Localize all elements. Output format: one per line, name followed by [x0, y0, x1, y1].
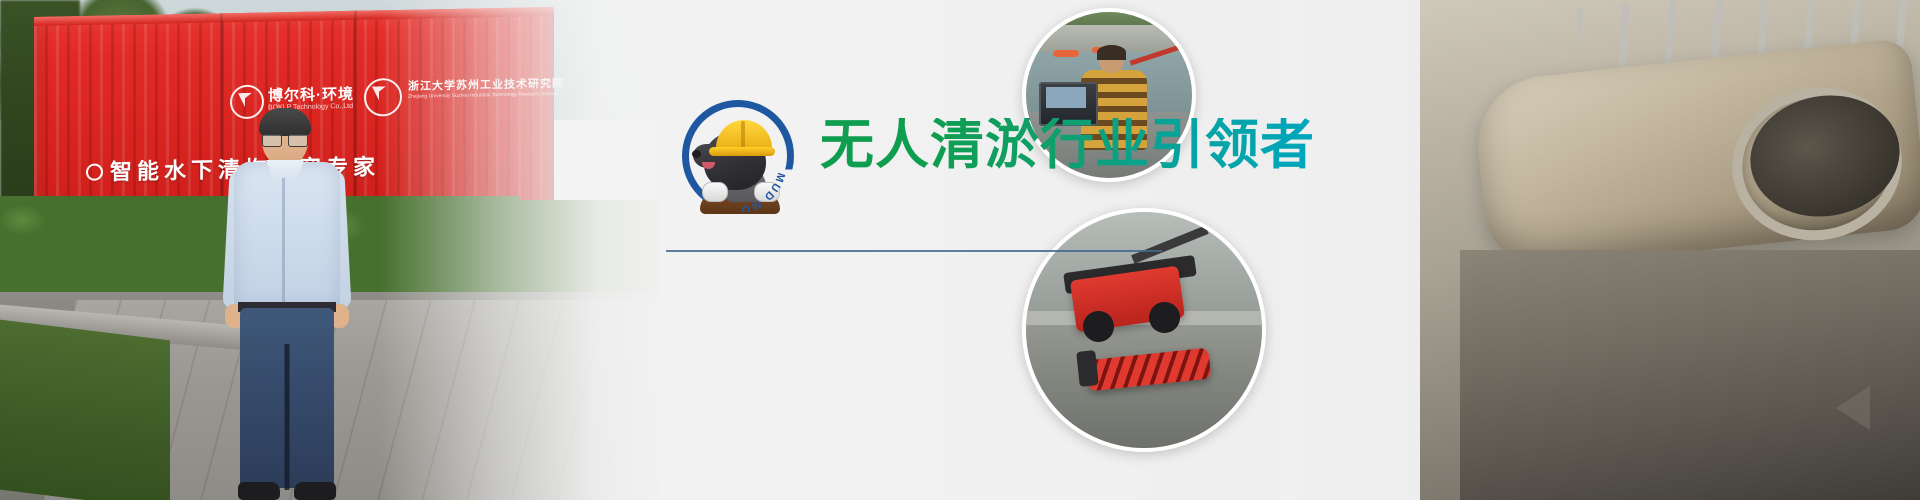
glasses-icon — [261, 134, 309, 146]
right-photo-group — [1280, 0, 1920, 500]
trouser-split — [285, 344, 290, 490]
slogan-bullet-icon — [86, 163, 103, 180]
hair — [259, 108, 311, 136]
left-shoe — [238, 482, 280, 500]
shirt-placket — [282, 178, 285, 304]
headline-divider — [666, 250, 1162, 252]
shirt — [234, 162, 340, 308]
logo-arc-text-label: MUD MOLE — [682, 100, 787, 212]
chevron-right-icon — [1836, 386, 1870, 430]
hero-banner: 博尔科·环境 BOKLP Technology Co.,Ltd 浙江大学苏州工业… — [0, 0, 1920, 500]
page-headline: 无人清淤行业引领者 — [820, 118, 1315, 172]
logo-arc-text: MUD MOLE — [682, 100, 794, 212]
right-photo-fade — [1280, 0, 1400, 500]
left-photo-fade — [380, 0, 660, 500]
right-shoe — [294, 482, 336, 500]
left-photo: 博尔科·环境 BOKLP Technology Co.,Ltd 浙江大学苏州工业… — [0, 0, 660, 500]
mud-mole-logo: MUD MOLE — [682, 100, 794, 212]
center-content: MUD MOLE 无人清淤行业引领者 — [660, 0, 1220, 500]
engineer-figure — [228, 112, 346, 500]
grass-verge — [0, 320, 170, 500]
lower-shadow-area — [1460, 250, 1920, 500]
